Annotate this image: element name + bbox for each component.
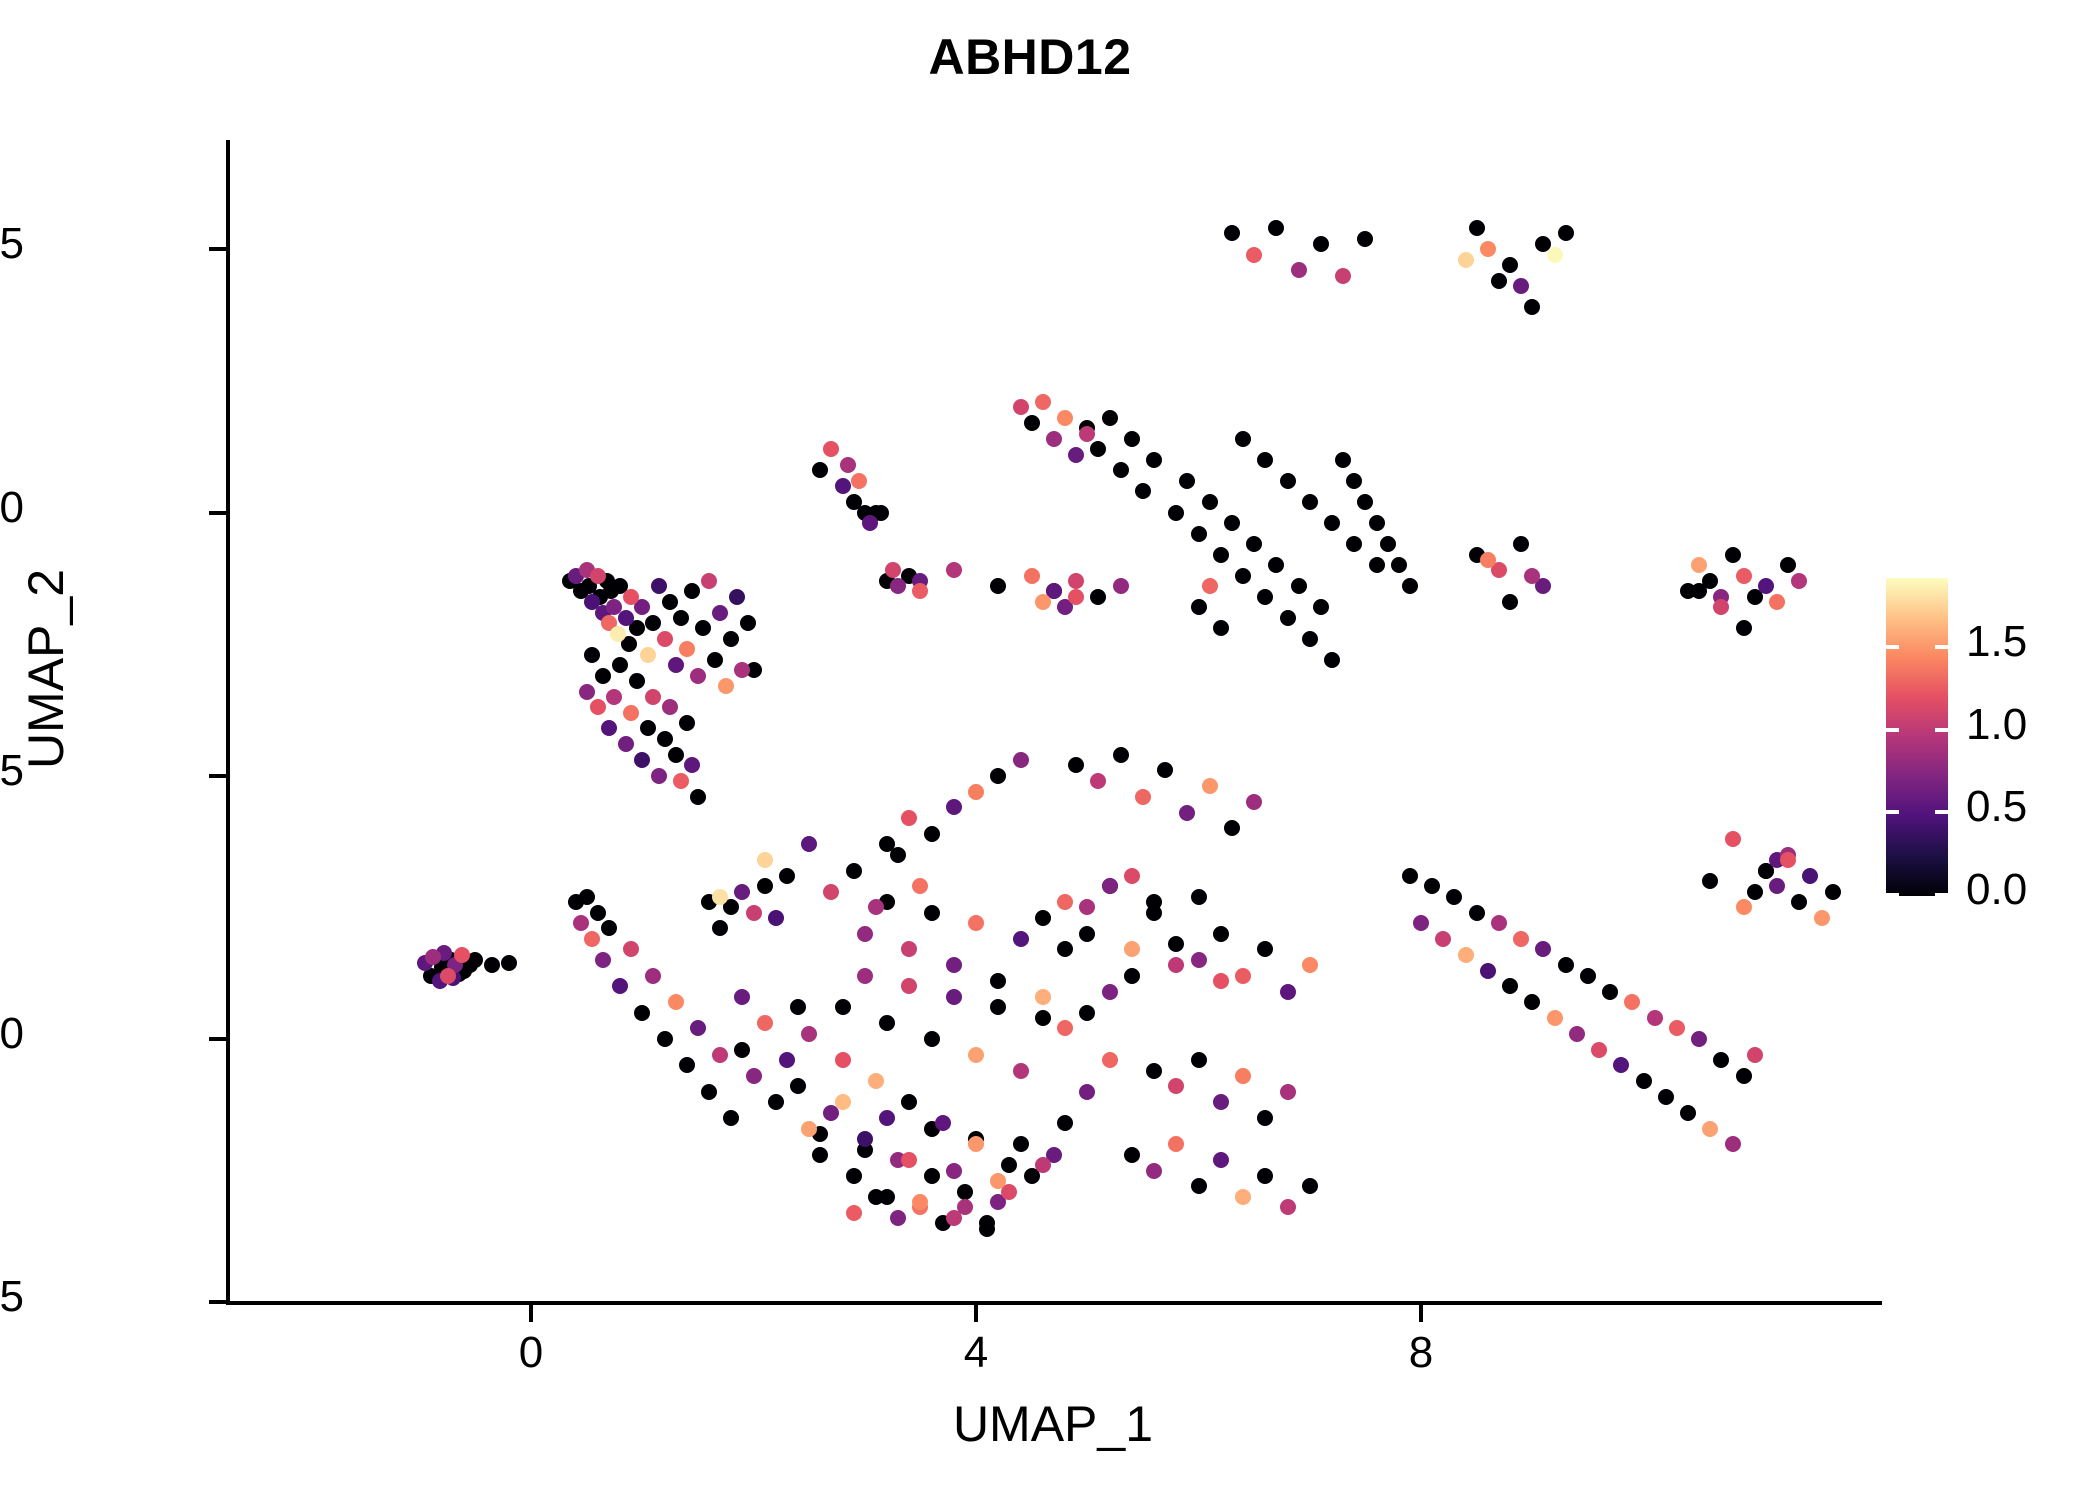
scatter-point bbox=[1068, 757, 1084, 773]
scatter-point bbox=[1402, 868, 1418, 884]
scatter-point bbox=[1202, 778, 1218, 794]
scatter-point bbox=[835, 478, 851, 494]
y-tick-mark bbox=[209, 511, 226, 515]
x-axis-title: UMAP_1 bbox=[228, 1395, 1878, 1453]
scatter-point bbox=[1113, 462, 1129, 478]
scatter-point bbox=[1725, 1136, 1741, 1152]
scatter-point bbox=[579, 889, 595, 905]
scatter-point bbox=[1413, 915, 1429, 931]
scatter-point bbox=[1691, 583, 1707, 599]
scatter-point bbox=[1435, 931, 1451, 947]
scatter-point bbox=[1268, 557, 1284, 573]
scatter-point bbox=[1191, 1178, 1207, 1194]
scatter-point bbox=[1191, 952, 1207, 968]
scatter-point bbox=[1291, 262, 1307, 278]
scatter-point bbox=[1825, 884, 1841, 900]
scatter-point bbox=[768, 1094, 784, 1110]
scatter-point bbox=[1380, 536, 1396, 552]
scatter-point bbox=[1580, 968, 1596, 984]
scatter-point bbox=[1291, 578, 1307, 594]
scatter-point bbox=[757, 878, 773, 894]
scatter-point bbox=[1090, 589, 1106, 605]
scatter-point bbox=[645, 689, 661, 705]
scatter-point bbox=[823, 884, 839, 900]
scatter-point bbox=[1202, 494, 1218, 510]
scatter-point bbox=[1324, 652, 1340, 668]
scatter-point bbox=[673, 773, 689, 789]
scatter-point bbox=[1035, 394, 1051, 410]
scatter-point bbox=[1747, 1047, 1763, 1063]
scatter-point bbox=[1725, 547, 1741, 563]
y-tick-label: 7.5 bbox=[0, 219, 24, 269]
scatter-point bbox=[1480, 552, 1496, 568]
scatter-point bbox=[1346, 536, 1362, 552]
scatter-point bbox=[1068, 573, 1084, 589]
y-tick-label: 0.0 bbox=[0, 1009, 24, 1059]
scatter-point bbox=[1213, 926, 1229, 942]
x-tick-mark bbox=[529, 1305, 533, 1322]
scatter-point bbox=[1702, 873, 1718, 889]
scatter-point bbox=[857, 968, 873, 984]
scatter-point bbox=[1569, 1026, 1585, 1042]
legend-tick-mark bbox=[1935, 728, 1948, 732]
scatter-point bbox=[1736, 568, 1752, 584]
scatter-point bbox=[1747, 884, 1763, 900]
scatter-point bbox=[1246, 536, 1262, 552]
scatter-point bbox=[768, 910, 784, 926]
scatter-point bbox=[812, 462, 828, 478]
scatter-point bbox=[846, 863, 862, 879]
scatter-point bbox=[1302, 1178, 1318, 1194]
scatter-point bbox=[740, 615, 756, 631]
scatter-point bbox=[901, 810, 917, 826]
scatter-point bbox=[1613, 1057, 1629, 1073]
scatter-point bbox=[590, 699, 606, 715]
x-tick-label: 8 bbox=[1341, 1328, 1501, 1378]
scatter-point bbox=[1135, 789, 1151, 805]
scatter-point bbox=[935, 1115, 951, 1131]
scatter-point bbox=[1191, 889, 1207, 905]
scatter-point bbox=[879, 1110, 895, 1126]
scatter-point bbox=[924, 905, 940, 921]
scatter-point bbox=[695, 620, 711, 636]
scatter-point bbox=[757, 1015, 773, 1031]
x-tick-mark bbox=[974, 1305, 978, 1322]
scatter-point bbox=[1513, 278, 1529, 294]
scatter-point bbox=[645, 968, 661, 984]
scatter-point bbox=[1769, 594, 1785, 610]
legend-tick-mark bbox=[1935, 645, 1948, 649]
scatter-point bbox=[701, 573, 717, 589]
legend-tick-mark bbox=[1886, 893, 1899, 897]
scatter-point bbox=[946, 562, 962, 578]
scatter-point bbox=[946, 957, 962, 973]
scatter-point bbox=[579, 684, 595, 700]
scatter-point bbox=[1780, 852, 1796, 868]
scatter-point bbox=[1346, 473, 1362, 489]
scatter-point bbox=[1168, 1078, 1184, 1094]
scatter-point bbox=[1146, 905, 1162, 921]
scatter-point bbox=[868, 1189, 884, 1205]
scatter-point bbox=[629, 673, 645, 689]
scatter-point bbox=[1469, 905, 1485, 921]
scatter-point bbox=[1647, 1010, 1663, 1026]
scatter-point bbox=[640, 720, 656, 736]
scatter-point bbox=[1769, 878, 1785, 894]
color-legend: 1.51.00.50.0 bbox=[1886, 578, 2086, 898]
scatter-point bbox=[1124, 1147, 1140, 1163]
legend-tick-mark bbox=[1935, 893, 1948, 897]
scatter-point bbox=[1224, 820, 1240, 836]
scatter-point bbox=[801, 1121, 817, 1137]
scatter-point bbox=[746, 1068, 762, 1084]
scatter-point bbox=[1446, 889, 1462, 905]
scatter-point bbox=[1691, 1031, 1707, 1047]
scatter-point bbox=[890, 847, 906, 863]
scatter-point bbox=[684, 757, 700, 773]
scatter-point bbox=[1146, 452, 1162, 468]
scatter-point bbox=[1191, 1052, 1207, 1068]
scatter-point bbox=[835, 999, 851, 1015]
scatter-point bbox=[1324, 515, 1340, 531]
scatter-point bbox=[1502, 257, 1518, 273]
legend-tick-label: 0.5 bbox=[1966, 782, 2027, 832]
scatter-point bbox=[690, 1020, 706, 1036]
scatter-point bbox=[890, 1210, 906, 1226]
scatter-point bbox=[924, 826, 940, 842]
scatter-point bbox=[1424, 878, 1440, 894]
legend-tick-label: 0.0 bbox=[1966, 865, 2027, 915]
scatter-point bbox=[1535, 941, 1551, 957]
scatter-point bbox=[1280, 1084, 1296, 1100]
scatter-point bbox=[612, 657, 628, 673]
scatter-point bbox=[1013, 399, 1029, 415]
scatter-point bbox=[1024, 415, 1040, 431]
scatter-point bbox=[668, 747, 684, 763]
scatter-point bbox=[712, 1047, 728, 1063]
scatter-point bbox=[723, 631, 739, 647]
scatter-point bbox=[1168, 957, 1184, 973]
scatter-point bbox=[1146, 1063, 1162, 1079]
scatter-point bbox=[1046, 431, 1062, 447]
scatter-point bbox=[835, 1052, 851, 1068]
x-tick-label: 4 bbox=[896, 1328, 1056, 1378]
scatter-point bbox=[846, 1205, 862, 1221]
scatter-point bbox=[868, 1073, 884, 1089]
scatter-point bbox=[1013, 931, 1029, 947]
scatter-point bbox=[1168, 936, 1184, 952]
scatter-point bbox=[1402, 578, 1418, 594]
scatter-point bbox=[573, 915, 589, 931]
scatter-point bbox=[623, 941, 639, 957]
scatter-point bbox=[968, 915, 984, 931]
scatter-point bbox=[1502, 978, 1518, 994]
scatter-point bbox=[1079, 1084, 1095, 1100]
scatter-point bbox=[746, 905, 762, 921]
scatter-point bbox=[1124, 868, 1140, 884]
scatter-point bbox=[606, 689, 622, 705]
scatter-point bbox=[645, 615, 661, 631]
scatter-point bbox=[1090, 441, 1106, 457]
scatter-point bbox=[790, 999, 806, 1015]
scatter-point bbox=[879, 1015, 895, 1031]
legend-tick-mark bbox=[1886, 728, 1899, 732]
scatter-point bbox=[1235, 968, 1251, 984]
scatter-point bbox=[1313, 599, 1329, 615]
scatter-point bbox=[1102, 1052, 1118, 1068]
scatter-point bbox=[1013, 1136, 1029, 1152]
scatter-point bbox=[1469, 220, 1485, 236]
scatter-point bbox=[1458, 947, 1474, 963]
scatter-point bbox=[1669, 1020, 1685, 1036]
scatter-point bbox=[734, 1042, 750, 1058]
scatter-point bbox=[634, 1005, 650, 1021]
scatter-point bbox=[1035, 989, 1051, 1005]
scatter-point bbox=[601, 720, 617, 736]
scatter-point bbox=[1691, 557, 1707, 573]
scatter-point bbox=[1102, 878, 1118, 894]
scatter-point bbox=[1302, 957, 1318, 973]
scatter-point bbox=[1102, 410, 1118, 426]
scatter-point bbox=[1213, 620, 1229, 636]
scatter-point bbox=[1035, 910, 1051, 926]
scatter-point bbox=[968, 784, 984, 800]
scatter-point bbox=[1758, 578, 1774, 594]
legend-tick-mark bbox=[1886, 810, 1899, 814]
scatter-point bbox=[857, 926, 873, 942]
scatter-point bbox=[668, 994, 684, 1010]
scatter-point bbox=[1235, 568, 1251, 584]
scatter-point bbox=[1624, 994, 1640, 1010]
scatter-point bbox=[1224, 225, 1240, 241]
scatter-point bbox=[1057, 1020, 1073, 1036]
x-tick-label: 0 bbox=[451, 1328, 611, 1378]
scatter-point bbox=[901, 941, 917, 957]
scatter-point bbox=[662, 594, 678, 610]
scatter-point bbox=[1090, 773, 1106, 789]
scatter-point bbox=[990, 973, 1006, 989]
scatter-point bbox=[868, 899, 884, 915]
legend-tick-label: 1.5 bbox=[1966, 617, 2027, 667]
scatter-point bbox=[454, 947, 470, 963]
scatter-point bbox=[979, 1221, 995, 1237]
scatter-point bbox=[1658, 1089, 1674, 1105]
scatter-point bbox=[790, 1078, 806, 1094]
scatter-point bbox=[1280, 1199, 1296, 1215]
scatter-point bbox=[690, 668, 706, 684]
scatter-point bbox=[968, 1047, 984, 1063]
scatter-point bbox=[1157, 762, 1173, 778]
scatter-point bbox=[990, 578, 1006, 594]
scatter-point bbox=[1736, 899, 1752, 915]
scatter-point bbox=[1313, 236, 1329, 252]
scatter-point bbox=[1079, 926, 1095, 942]
y-axis-title: UMAP_2 bbox=[17, 519, 75, 819]
scatter-point bbox=[1001, 1157, 1017, 1173]
scatter-point bbox=[1102, 984, 1118, 1000]
scatter-point bbox=[1013, 752, 1029, 768]
scatter-point bbox=[1558, 957, 1574, 973]
scatter-point bbox=[1113, 578, 1129, 594]
scatter-point bbox=[1524, 568, 1540, 584]
scatter-point bbox=[801, 1026, 817, 1042]
scatter-point bbox=[1168, 505, 1184, 521]
scatter-point bbox=[1057, 1115, 1073, 1131]
x-tick-mark bbox=[1419, 1305, 1423, 1322]
scatter-point bbox=[779, 868, 795, 884]
scatter-point bbox=[1257, 1110, 1273, 1126]
scatter-point bbox=[1513, 931, 1529, 947]
scatter-point bbox=[1636, 1073, 1652, 1089]
scatter-point bbox=[623, 705, 639, 721]
scatter-point bbox=[1124, 941, 1140, 957]
scatter-point bbox=[1591, 1042, 1607, 1058]
scatter-point bbox=[1302, 631, 1318, 647]
scatter-point bbox=[840, 457, 856, 473]
scatter-point bbox=[734, 989, 750, 1005]
scatter-point bbox=[1224, 515, 1240, 531]
scatter-point bbox=[1035, 594, 1051, 610]
page-title: ABHD12 bbox=[0, 28, 2060, 86]
scatter-point bbox=[1558, 225, 1574, 241]
scatter-point bbox=[1302, 494, 1318, 510]
scatter-point bbox=[1780, 557, 1796, 573]
scatter-point bbox=[701, 1084, 717, 1100]
scatter-point bbox=[662, 699, 678, 715]
scatter-point bbox=[924, 1031, 940, 1047]
scatter-point bbox=[1257, 1168, 1273, 1184]
scatter-point bbox=[640, 647, 656, 663]
scatter-point bbox=[1513, 536, 1529, 552]
scatter-point bbox=[1191, 526, 1207, 542]
scatter-point bbox=[1702, 1121, 1718, 1137]
scatter-point bbox=[1391, 557, 1407, 573]
scatter-point bbox=[1079, 899, 1095, 915]
scatter-point bbox=[1257, 452, 1273, 468]
scatter-point bbox=[823, 441, 839, 457]
scatter-point bbox=[1357, 231, 1373, 247]
scatter-point bbox=[1068, 447, 1084, 463]
scatter-point bbox=[668, 657, 684, 673]
scatter-point bbox=[1335, 268, 1351, 284]
scatter-point bbox=[612, 978, 628, 994]
scatter-point bbox=[924, 1168, 940, 1184]
y-axis-line bbox=[226, 140, 230, 1305]
scatter-point bbox=[1335, 452, 1351, 468]
scatter-point bbox=[890, 578, 906, 594]
legend-tick-mark bbox=[1886, 645, 1899, 649]
scatter-point bbox=[1680, 1105, 1696, 1121]
scatter-point bbox=[1079, 1005, 1095, 1021]
scatter-point bbox=[1502, 594, 1518, 610]
scatter-point bbox=[1135, 483, 1151, 499]
scatter-point bbox=[734, 884, 750, 900]
scatter-point bbox=[1235, 1189, 1251, 1205]
scatter-point bbox=[1491, 273, 1507, 289]
scatter-point bbox=[1235, 431, 1251, 447]
scatter-point bbox=[885, 562, 901, 578]
scatter-point bbox=[990, 768, 1006, 784]
y-tick-mark bbox=[209, 247, 226, 251]
scatter-point bbox=[440, 968, 456, 984]
scatter-point bbox=[946, 799, 962, 815]
scatter-point bbox=[1035, 1157, 1051, 1173]
scatter-point bbox=[657, 631, 673, 647]
scatter-point bbox=[718, 678, 734, 694]
scatter-point bbox=[690, 789, 706, 805]
scatter-point bbox=[1814, 910, 1830, 926]
scatter-point bbox=[1124, 431, 1140, 447]
scatter-point bbox=[679, 641, 695, 657]
y-tick-mark bbox=[209, 1037, 226, 1041]
scatter-point bbox=[862, 515, 878, 531]
scatter-point bbox=[946, 1163, 962, 1179]
y-tick-mark bbox=[209, 1300, 226, 1304]
scatter-point bbox=[729, 589, 745, 605]
scatter-point bbox=[1458, 252, 1474, 268]
scatter-point bbox=[1602, 984, 1618, 1000]
scatter-point bbox=[990, 999, 1006, 1015]
scatter-point bbox=[1213, 1094, 1229, 1110]
scatter-point bbox=[712, 889, 728, 905]
scatter-point bbox=[673, 610, 689, 626]
scatter-point bbox=[1713, 599, 1729, 615]
scatter-point bbox=[707, 652, 723, 668]
scatter-point bbox=[1736, 1068, 1752, 1084]
scatter-point bbox=[1057, 941, 1073, 957]
scatter-point bbox=[1179, 805, 1195, 821]
scatter-point bbox=[1213, 973, 1229, 989]
y-tick-label: -2.5 bbox=[0, 1272, 24, 1322]
scatter-point bbox=[957, 1184, 973, 1200]
scatter-point bbox=[1213, 547, 1229, 563]
y-tick-mark bbox=[209, 774, 226, 778]
plot-panel bbox=[228, 140, 1878, 1303]
scatter-point bbox=[1357, 494, 1373, 510]
scatter-point bbox=[1068, 589, 1084, 605]
scatter-point bbox=[1013, 1063, 1029, 1079]
scatter-point bbox=[812, 1147, 828, 1163]
scatter-point bbox=[501, 955, 517, 971]
scatter-point bbox=[912, 878, 928, 894]
scatter-point bbox=[651, 768, 667, 784]
scatter-point bbox=[1179, 473, 1195, 489]
scatter-point bbox=[1168, 1136, 1184, 1152]
scatter-point bbox=[1791, 894, 1807, 910]
scatter-point bbox=[679, 1057, 695, 1073]
scatter-point bbox=[1057, 410, 1073, 426]
scatter-point bbox=[601, 920, 617, 936]
scatter-point bbox=[657, 1031, 673, 1047]
scatter-point bbox=[1280, 473, 1296, 489]
scatter-point bbox=[779, 1052, 795, 1068]
scatter-point bbox=[1113, 747, 1129, 763]
scatter-point bbox=[723, 1110, 739, 1126]
scatter-point bbox=[623, 589, 639, 605]
scatter-point bbox=[1791, 573, 1807, 589]
scatter-point bbox=[679, 715, 695, 731]
scatter-point bbox=[1369, 557, 1385, 573]
scatter-point bbox=[1024, 568, 1040, 584]
scatter-points-layer bbox=[228, 140, 1878, 1303]
scatter-point bbox=[1802, 868, 1818, 884]
scatter-point bbox=[712, 920, 728, 936]
scatter-point bbox=[651, 578, 667, 594]
scatter-point bbox=[610, 626, 626, 642]
scatter-point bbox=[757, 852, 773, 868]
scatter-point bbox=[1246, 247, 1262, 263]
scatter-point bbox=[1257, 589, 1273, 605]
